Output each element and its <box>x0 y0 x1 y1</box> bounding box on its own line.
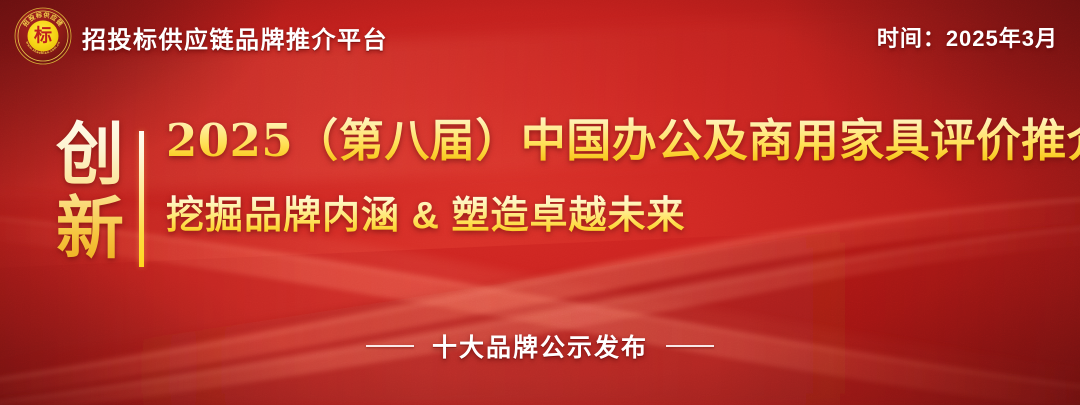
keyword-innovation: 创 新 <box>52 118 128 266</box>
event-title: 2025（第八届）中国办公及商用家具评价推介活动 <box>166 112 1080 170</box>
circular-seal-logo-icon: 招投标供应链 www.zhaobiao.com.cn 标 <box>14 7 72 65</box>
keyword-char-2: 新 <box>52 192 128 266</box>
rule-left-icon <box>366 345 414 347</box>
announcement-row: 十大品牌公示发布 <box>0 328 1080 364</box>
event-slogan: 挖掘品牌内涵 & 塑造卓越未来 <box>166 192 1080 240</box>
banner-main: 创 新 2025（第八届）中国办公及商用家具评价推介活动 挖掘品牌内涵 & 塑造… <box>0 112 1080 282</box>
promo-banner: 招投标供应链 www.zhaobiao.com.cn 标 招投标供应链品牌推介平… <box>0 0 1080 405</box>
banner-header: 招投标供应链 www.zhaobiao.com.cn 标 招投标供应链品牌推介平… <box>0 0 1080 72</box>
event-date-label: 时间：2025年3月 <box>877 21 1058 53</box>
title-block: 2025（第八届）中国办公及商用家具评价推介活动 挖掘品牌内涵 & 塑造卓越未来 <box>166 112 1080 240</box>
rule-right-icon <box>666 345 714 347</box>
svg-text:标: 标 <box>33 25 52 47</box>
platform-name: 招投标供应链品牌推介平台 <box>82 20 388 55</box>
announcement-text: 十大品牌公示发布 <box>432 328 648 364</box>
keyword-char-1: 创 <box>52 118 128 192</box>
vertical-divider <box>139 131 144 267</box>
